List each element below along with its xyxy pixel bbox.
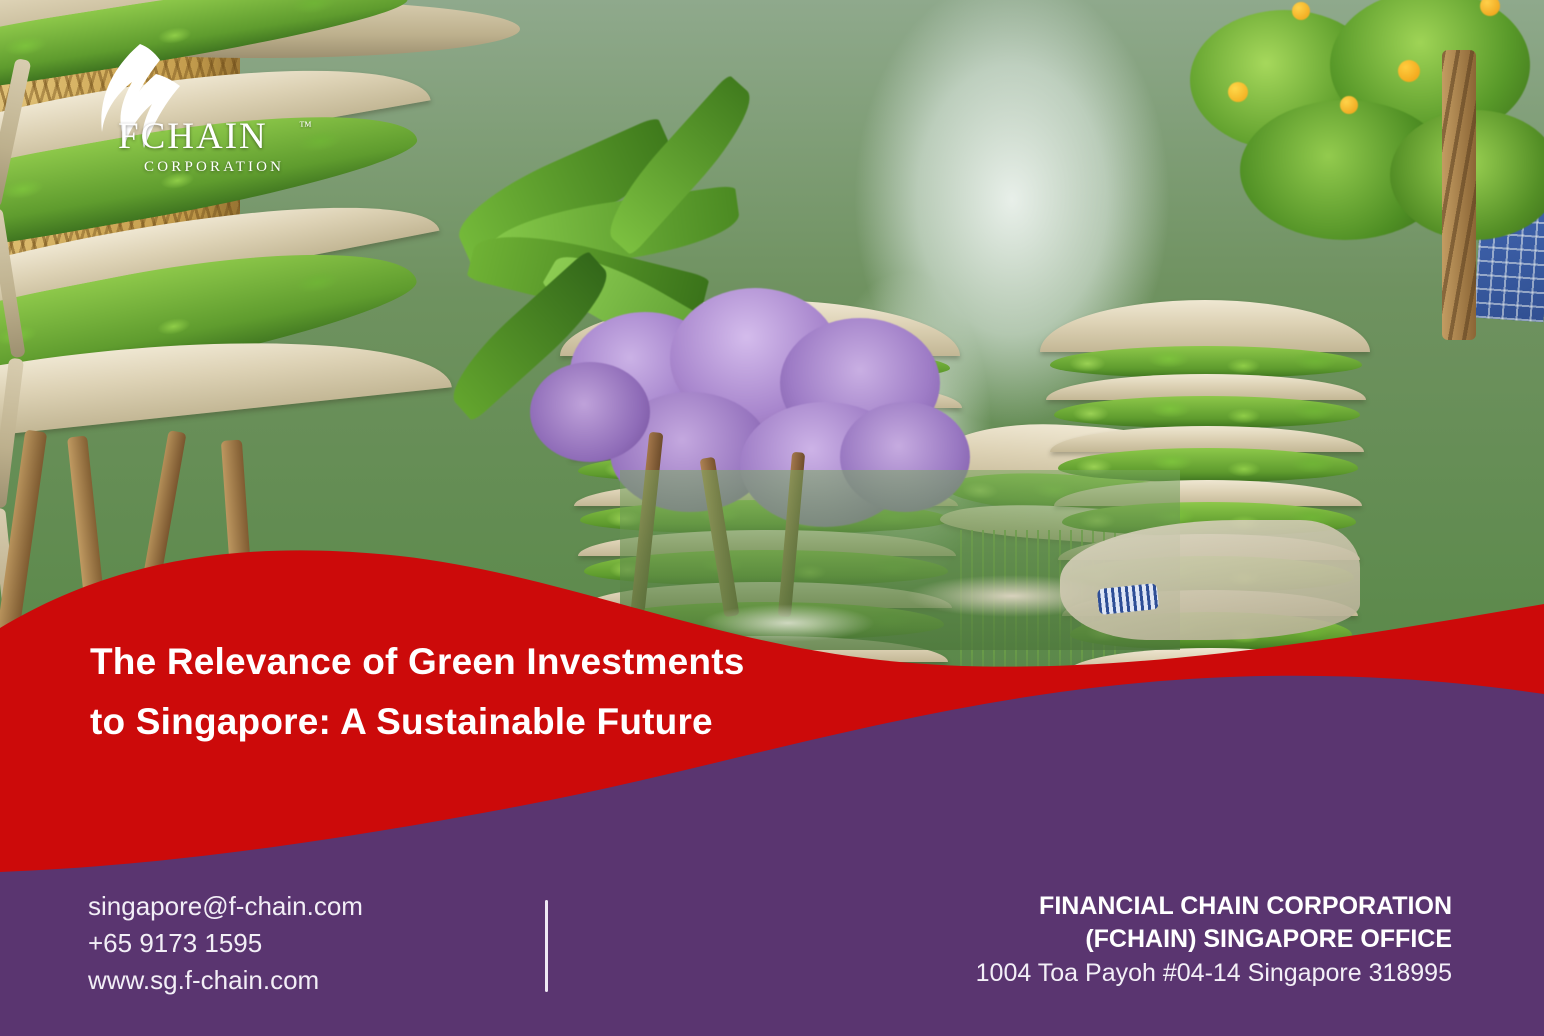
contact-block: singapore@f-chain.com +65 9173 1595 www.… bbox=[88, 888, 363, 999]
contact-website[interactable]: www.sg.f-chain.com bbox=[88, 962, 363, 999]
footer-divider bbox=[545, 900, 548, 992]
company-line-1: FINANCIAL CHAIN CORPORATION bbox=[976, 890, 1452, 923]
company-address: 1004 Toa Payoh #04-14 Singapore 318995 bbox=[976, 956, 1452, 991]
marketing-banner: FCHAIN ™ CORPORATION The Relevance of Gr… bbox=[0, 0, 1544, 1036]
company-block: FINANCIAL CHAIN CORPORATION (FCHAIN) SIN… bbox=[976, 890, 1452, 991]
contact-phone[interactable]: +65 9173 1595 bbox=[88, 925, 363, 962]
contact-email[interactable]: singapore@f-chain.com bbox=[88, 888, 363, 925]
page-title: The Relevance of Green Investments to Si… bbox=[90, 632, 990, 752]
company-line-2: (FCHAIN) SINGAPORE OFFICE bbox=[976, 923, 1452, 956]
title-line-2: to Singapore: A Sustainable Future bbox=[90, 692, 990, 752]
title-line-1: The Relevance of Green Investments bbox=[90, 632, 990, 692]
purple-wave-shape bbox=[0, 0, 1544, 1036]
